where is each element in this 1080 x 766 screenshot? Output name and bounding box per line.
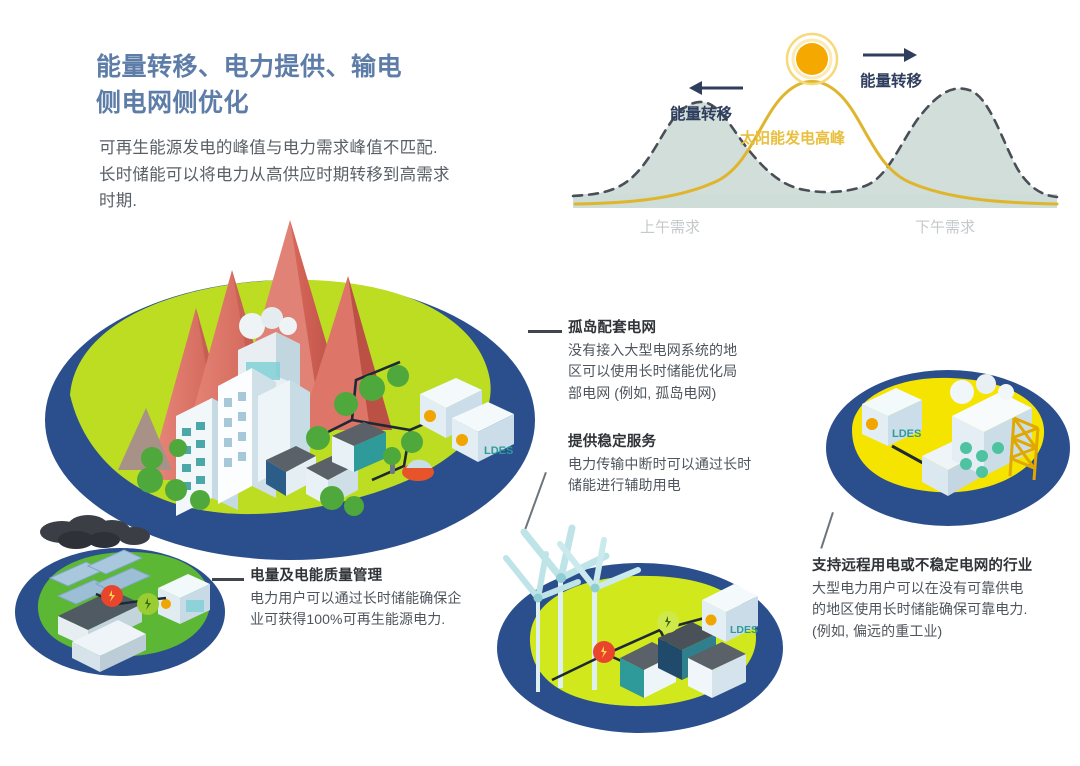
alert-badge-solar [101, 585, 123, 607]
sun-icon [787, 34, 837, 84]
energy-shift-right-arrow [863, 48, 917, 62]
illustration-scene: LDES LDES [0, 180, 1080, 761]
energy-shift-left-label: 能量转移 [670, 104, 733, 123]
wind-village-island: LDES [497, 528, 783, 733]
energy-shift-right-label: 能量转移 [860, 71, 923, 90]
infographic-canvas: 能量转移、电力提供、输电 侧电网侧优化 可再生能源发电的峰值与电力需求峰值不匹配… [0, 0, 1080, 761]
solar-peak-label: 太阳能发电高峰 [740, 129, 846, 147]
ok-badge-wind [657, 611, 679, 633]
ok-badge-solar [137, 593, 159, 615]
industrial-desert-island: LDES [826, 370, 1070, 526]
page-title: 能量转移、电力提供、输电 侧电网侧优化 [96, 50, 526, 121]
svg-text:LDES: LDES [730, 624, 758, 636]
main-city-island: LDES LDES [45, 220, 535, 560]
energy-shift-left-arrow [689, 81, 743, 95]
svg-text:LDES: LDES [484, 445, 513, 457]
alert-badge-wind [593, 641, 615, 663]
svg-text:LDES: LDES [892, 428, 921, 440]
